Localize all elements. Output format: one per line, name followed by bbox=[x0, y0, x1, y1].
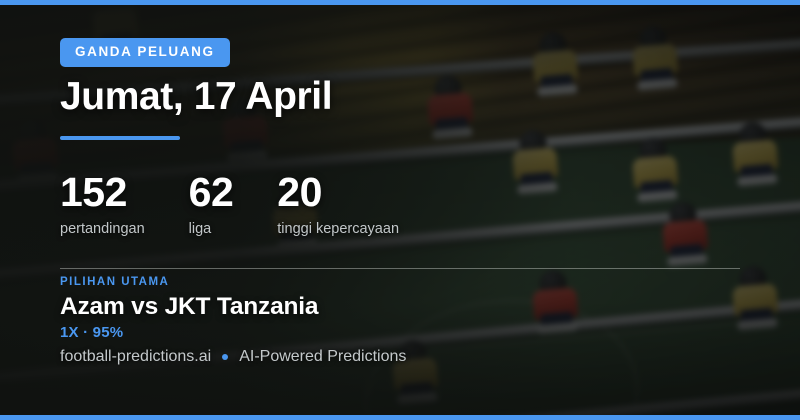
prediction-promo-card: GANDA PELUANG Jumat, 17 April 152 pertan… bbox=[0, 0, 800, 420]
title-underline-accent bbox=[60, 136, 180, 140]
bullet-dot-icon bbox=[222, 354, 228, 360]
page-title: Jumat, 17 April bbox=[60, 76, 332, 118]
stat-label: pertandingan bbox=[60, 222, 145, 237]
stats-row: 152 pertandingan 62 liga 20 tinggi keper… bbox=[60, 172, 399, 237]
card-content: GANDA PELUANG Jumat, 17 April 152 pertan… bbox=[60, 0, 760, 420]
stat-label: liga bbox=[189, 222, 234, 237]
stat-label: tinggi kepercayaan bbox=[277, 222, 399, 237]
footer: football-predictions.ai AI-Powered Predi… bbox=[60, 349, 406, 365]
stat-value: 62 bbox=[189, 172, 234, 213]
stat-item-high-confidence: 20 tinggi kepercayaan bbox=[277, 172, 399, 237]
match-title: Azam vs JKT Tanzania bbox=[60, 294, 318, 321]
site-name: football-predictions.ai bbox=[60, 349, 211, 365]
prediction-tip: 1X · 95% bbox=[60, 325, 123, 340]
category-badge: GANDA PELUANG bbox=[60, 38, 230, 67]
stat-value: 20 bbox=[277, 172, 399, 213]
stat-item-leagues: 62 liga bbox=[189, 172, 234, 237]
section-divider bbox=[60, 268, 740, 269]
stat-item-matches: 152 pertandingan bbox=[60, 172, 145, 237]
stat-value: 152 bbox=[60, 172, 145, 213]
footer-tagline: AI-Powered Predictions bbox=[239, 349, 406, 365]
top-pick-label: PILIHAN UTAMA bbox=[60, 277, 169, 289]
